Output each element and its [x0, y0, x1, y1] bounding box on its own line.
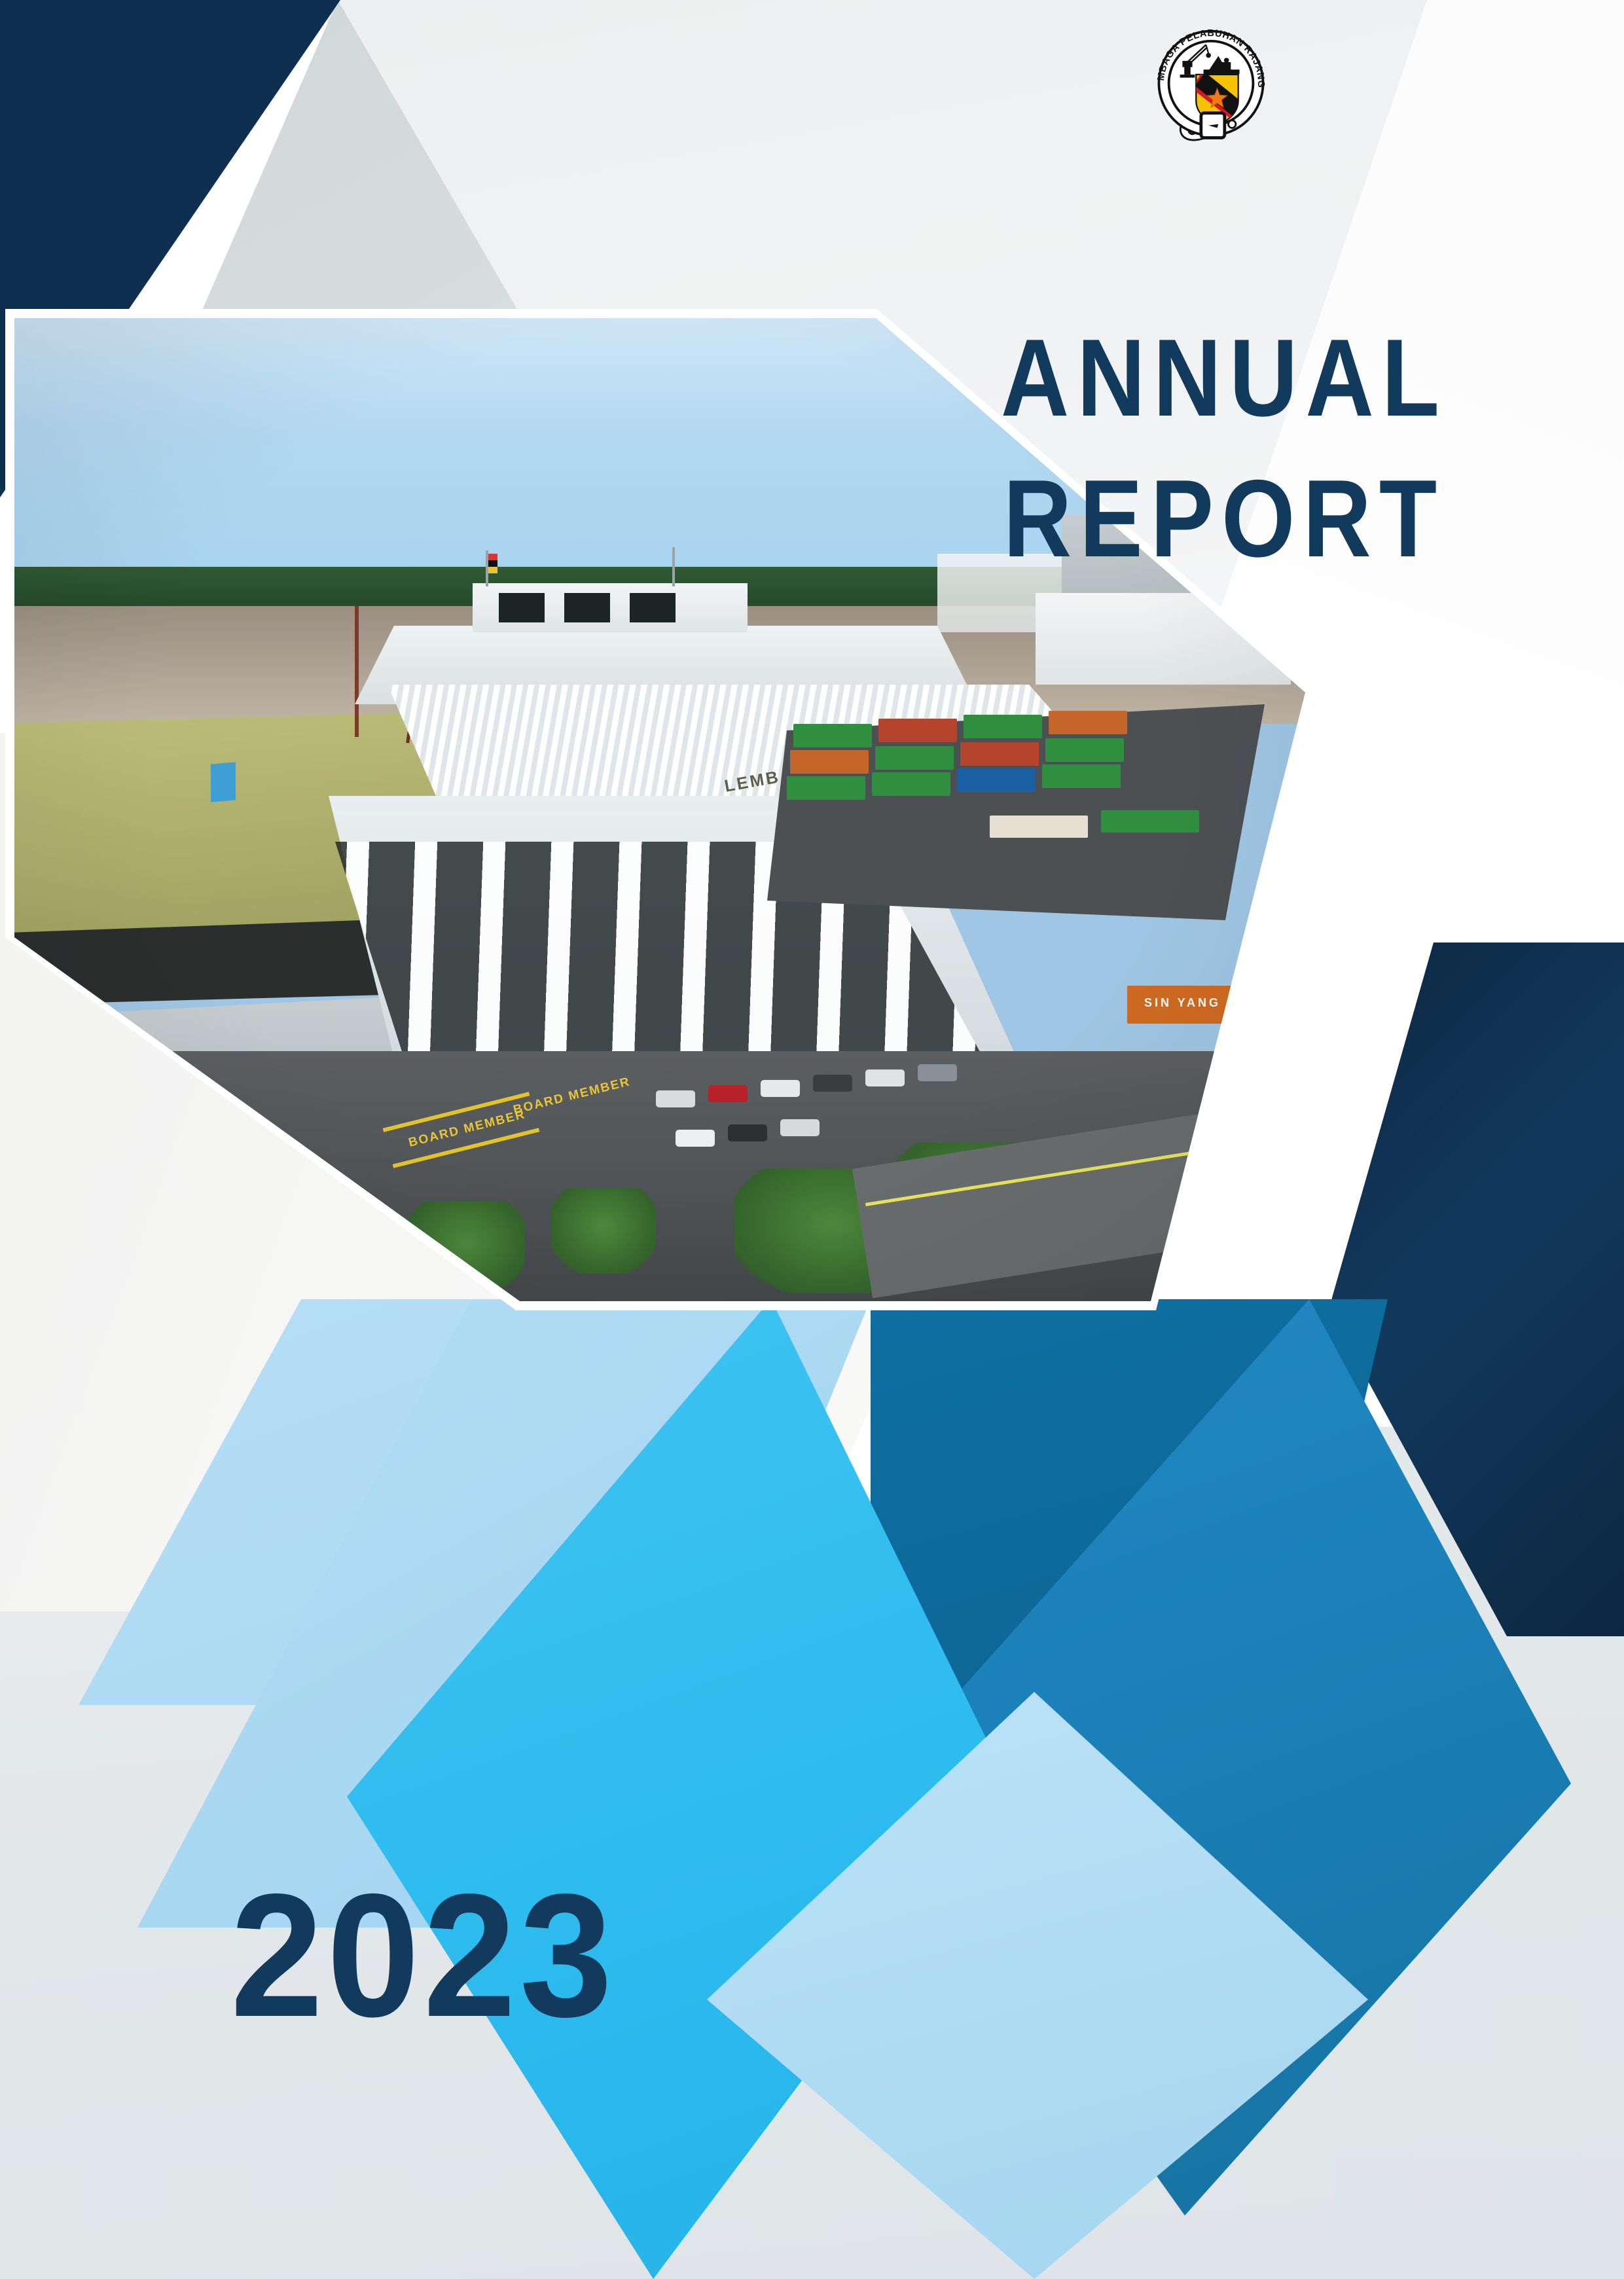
- title-line-annual: ANNUAL: [993, 308, 1454, 448]
- lembaga-pelabuhan-rajang-logo: LEMBAGA PELABUHAN RAJANG: [1149, 26, 1273, 144]
- cover-title: ANNUAL REPORT: [956, 308, 1492, 589]
- annual-report-cover: LEMBAGA PELABUHAN RAJANG: [0, 0, 1624, 2279]
- diamond-chevron-band: [0, 1299, 1624, 2279]
- title-line-report: REPORT: [993, 448, 1454, 589]
- cover-year: 2023: [230, 1867, 616, 2043]
